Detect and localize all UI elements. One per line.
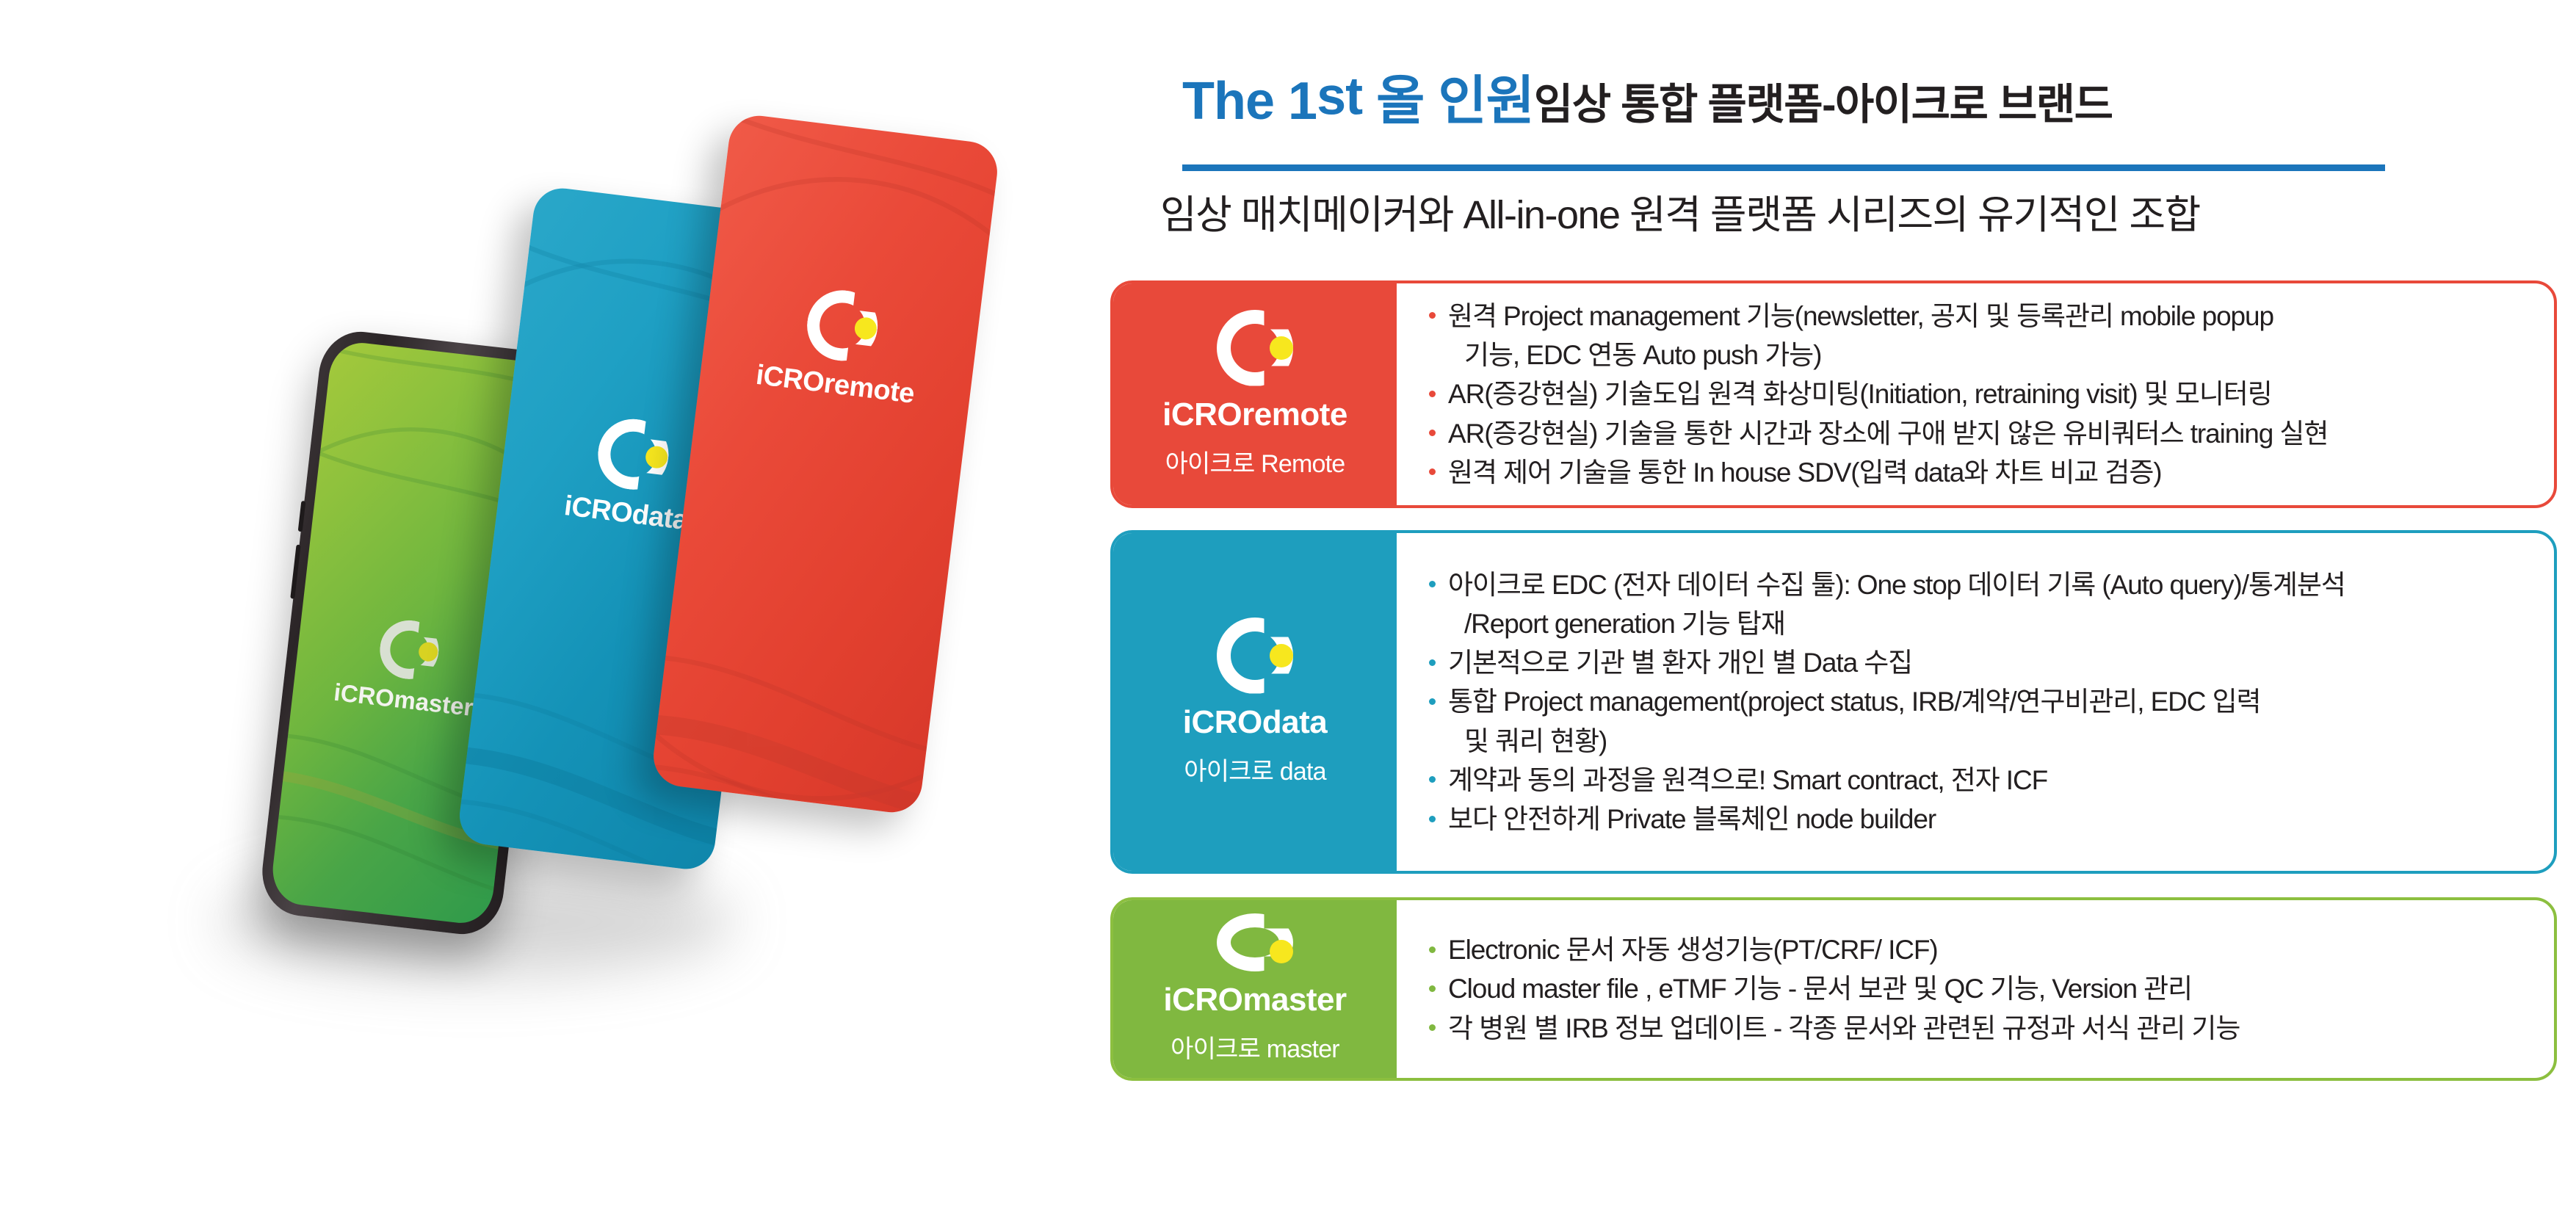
content-panel: The 1st 올 인원임상 통합 플랫폼-아이크로 브랜드 임상 매치메이커와… — [1087, 0, 2576, 1213]
title-ordinal-suffix: st — [1317, 68, 1362, 126]
bullet-dot-icon — [1429, 391, 1448, 397]
list-item-text: 보다 안전하게 Private 블록체인 node builder — [1448, 800, 2529, 839]
bullet-dot-icon — [1429, 468, 1448, 475]
list-item: 보다 안전하게 Private 블록체인 node builder — [1429, 800, 2529, 839]
bullet-dot-icon — [1429, 698, 1448, 705]
icro-logo-icon — [1217, 913, 1293, 971]
list-item: 각 병원 별 IRB 정보 업데이트 - 각종 문서와 관련된 규정과 서식 관… — [1429, 1009, 2529, 1048]
bullet-dot-icon — [1429, 816, 1448, 822]
card-brand-name: iCROremote — [1162, 397, 1347, 433]
card-brand-name-ko: 아이크로 master — [1171, 1029, 1339, 1065]
list-item: 원격 Project management 기능(newsletter, 공지 … — [1429, 297, 2529, 375]
list-item-text: 원격 Project management 기능(newsletter, 공지 … — [1448, 297, 2529, 375]
icro-logo-icon — [803, 286, 882, 365]
list-item-text: 기본적으로 기관 별 환자 개인 별 Data 수집 — [1448, 643, 2529, 682]
list-item: AR(증강현실) 기술도입 원격 화상미팅(Initiation, retrai… — [1429, 374, 2529, 413]
logo-dot-shape — [1270, 644, 1293, 667]
feature-card-icromaster: iCROmaster 아이크로 master Electronic 문서 자동 … — [1110, 897, 2557, 1081]
card-feature-list-icrodata: 아이크로 EDC (전자 데이터 수집 툴): One stop 데이터 기록 … — [1397, 533, 2554, 871]
icro-logo-icon — [594, 415, 673, 493]
title-dark-part: 임상 통합 플랫폼-아이크로 브랜드 — [1534, 81, 2113, 128]
title-blue-lead: The 1 — [1182, 72, 1317, 131]
list-item: 통합 Project management(project status, IR… — [1429, 682, 2529, 761]
bullet-dot-icon — [1429, 1024, 1448, 1031]
page-subtitle: 임상 매치메이커와 All-in-one 원격 플랫폼 시리즈의 유기적인 조합 — [1160, 182, 2200, 240]
list-item-text: AR(증강현실) 기술도입 원격 화상미팅(Initiation, retrai… — [1448, 374, 2529, 413]
card-brand-name: iCROmaster — [1163, 982, 1346, 1018]
icro-logo-icon — [1217, 310, 1293, 386]
bullet-dot-icon — [1429, 659, 1448, 666]
bullet-dot-icon — [1429, 776, 1448, 783]
bullet-dot-icon — [1429, 946, 1448, 953]
list-item-text: 아이크로 EDC (전자 데이터 수집 툴): One stop 데이터 기록 … — [1448, 565, 2529, 644]
card-brand-name: iCROdata — [1183, 704, 1327, 741]
page-title: The 1st 올 인원임상 통합 플랫폼-아이크로 브랜드 — [1182, 57, 2113, 134]
phone-power-button — [290, 545, 300, 599]
icro-logo-icon — [377, 618, 442, 683]
bullet-dot-icon — [1429, 430, 1448, 436]
list-item: AR(증강현실) 기술을 통한 시간과 장소에 구애 받지 않은 유비쿼터스 t… — [1429, 414, 2529, 453]
card-feature-list-icroremote: 원격 Project management 기능(newsletter, 공지 … — [1397, 283, 2554, 505]
list-item-text: Electronic 문서 자동 생성기능(PT/CRF/ ICF) — [1448, 930, 2529, 969]
card-sidebar-icromaster: iCROmaster 아이크로 master — [1113, 900, 1397, 1078]
bullet-dot-icon — [1429, 312, 1448, 319]
list-item-text: 통합 Project management(project status, IR… — [1448, 682, 2529, 761]
device-mockup: iCROmaster — [0, 0, 1087, 1213]
card-sidebar-icroremote: iCROremote 아이크로 Remote — [1113, 283, 1397, 505]
list-item-text: 계약과 동의 과정을 원격으로! Smart contract, 전자 ICF — [1448, 761, 2529, 800]
card-brand-name-ko: 아이크로 data — [1184, 751, 1326, 787]
bullet-dot-icon — [1429, 581, 1448, 587]
icro-logo-icon — [1217, 618, 1293, 694]
phone-volume-button — [298, 501, 306, 532]
promo-graphic: iCROmaster — [0, 0, 2576, 1213]
card-sidebar-icrodata: iCROdata 아이크로 data — [1113, 533, 1397, 871]
feature-card-icrodata: iCROdata 아이크로 data 아이크로 EDC (전자 데이터 수집 툴… — [1110, 530, 2557, 874]
list-item: Cloud master file , eTMF 기능 - 문서 보관 및 QC… — [1429, 969, 2529, 1008]
title-divider — [1182, 164, 2385, 171]
list-item-text: 각 병원 별 IRB 정보 업데이트 - 각종 문서와 관련된 규정과 서식 관… — [1448, 1009, 2529, 1048]
list-item: 원격 제어 기술을 통한 In house SDV(입력 data와 차트 비교… — [1429, 453, 2529, 492]
list-item: 기본적으로 기관 별 환자 개인 별 Data 수집 — [1429, 643, 2529, 682]
logo-dot-shape — [1270, 940, 1293, 963]
list-item-text: Cloud master file , eTMF 기능 - 문서 보관 및 QC… — [1448, 969, 2529, 1008]
list-item-text: AR(증강현실) 기술을 통한 시간과 장소에 구애 받지 않은 유비쿼터스 t… — [1448, 414, 2529, 453]
list-item: 아이크로 EDC (전자 데이터 수집 툴): One stop 데이터 기록 … — [1429, 565, 2529, 644]
list-item: 계약과 동의 과정을 원격으로! Smart contract, 전자 ICF — [1429, 761, 2529, 800]
feature-card-icroremote: iCROremote 아이크로 Remote 원격 Project manage… — [1110, 280, 2557, 508]
list-item: Electronic 문서 자동 생성기능(PT/CRF/ ICF) — [1429, 930, 2529, 969]
title-blue-tail: 올 인원 — [1362, 72, 1534, 131]
logo-dot-shape — [1270, 336, 1293, 360]
bullet-dot-icon — [1429, 985, 1448, 992]
card-feature-list-icromaster: Electronic 문서 자동 생성기능(PT/CRF/ ICF) Cloud… — [1397, 900, 2554, 1078]
card-brand-name-ko: 아이크로 Remote — [1165, 443, 1345, 479]
list-item-text: 원격 제어 기술을 통한 In house SDV(입력 data와 차트 비교… — [1448, 453, 2529, 492]
